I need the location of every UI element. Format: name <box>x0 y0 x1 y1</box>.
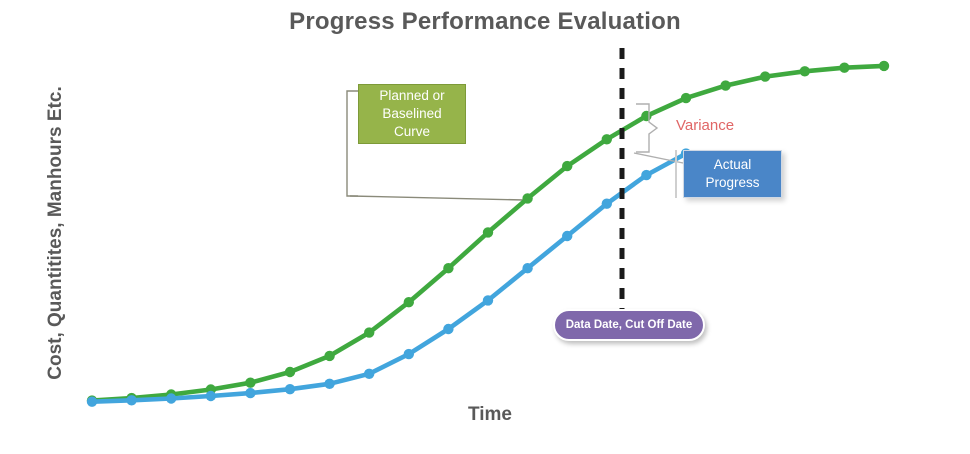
data-point-marker <box>285 384 295 394</box>
planned-callout-line3: Curve <box>394 124 430 139</box>
planned-callout-line2: Baselined <box>382 106 441 121</box>
data-point-marker <box>443 263 453 273</box>
data-point-marker <box>483 227 493 237</box>
actual-callout-line2: Progress <box>705 175 759 190</box>
variance-label: Variance <box>676 117 734 134</box>
data-point-marker <box>602 134 612 144</box>
data-point-marker <box>324 351 334 361</box>
data-point-marker <box>324 379 334 389</box>
data-point-marker <box>364 369 374 379</box>
data-date-badge[interactable]: Data Date, Cut Off Date <box>553 309 705 341</box>
data-point-marker <box>522 263 532 273</box>
data-point-marker <box>562 231 572 241</box>
actual-callout-line1: Actual <box>714 157 752 172</box>
planned-curve-callout[interactable]: Planned or Baselined Curve <box>358 84 466 144</box>
data-point-marker <box>760 71 770 81</box>
chart-canvas: Progress Performance Evaluation Cost, Qu… <box>0 0 970 454</box>
data-point-marker <box>641 170 651 180</box>
data-point-marker <box>285 367 295 377</box>
data-point-marker <box>562 161 572 171</box>
data-point-marker <box>800 66 810 76</box>
data-point-marker <box>720 80 730 90</box>
data-point-marker <box>443 324 453 334</box>
data-point-marker <box>602 199 612 209</box>
actual-progress-callout[interactable]: Actual Progress <box>683 150 782 198</box>
data-point-marker <box>404 297 414 307</box>
actual-curve <box>87 148 691 407</box>
data-point-marker <box>522 193 532 203</box>
data-point-marker <box>879 61 889 71</box>
data-point-marker <box>245 378 255 388</box>
plot-area <box>0 0 970 454</box>
planned-callout-line1: Planned or <box>379 88 444 103</box>
data-point-marker <box>364 327 374 337</box>
data-point-marker <box>641 111 651 121</box>
planned-curve <box>87 61 889 406</box>
data-point-marker <box>404 349 414 359</box>
data-point-marker <box>483 295 493 305</box>
data-point-marker <box>166 393 176 403</box>
data-point-marker <box>126 395 136 405</box>
data-point-marker <box>681 93 691 103</box>
data-point-marker <box>245 388 255 398</box>
data-point-marker <box>87 397 97 407</box>
data-point-marker <box>839 62 849 72</box>
data-point-marker <box>206 391 216 401</box>
